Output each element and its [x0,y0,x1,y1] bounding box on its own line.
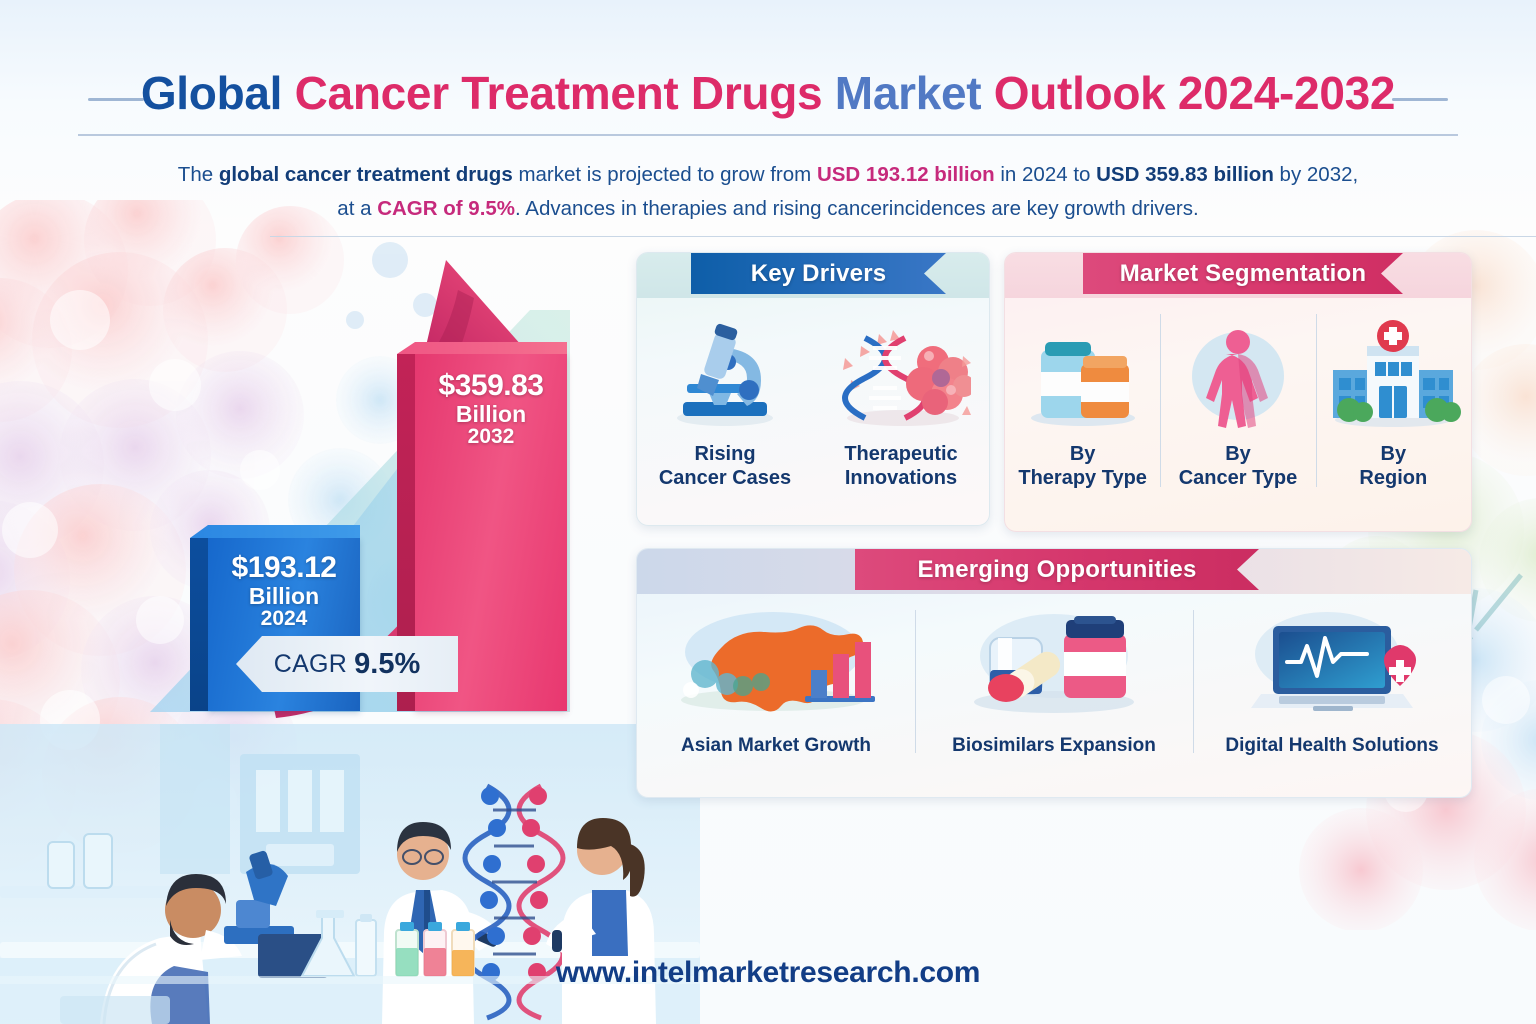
segmentation-body: By Therapy Type B [1005,298,1471,503]
pill-bottles-icon [1019,320,1147,430]
subtitle-text-e: in 2024 to [995,163,1096,186]
microscope-icon [665,318,785,430]
page-title: Global Cancer Treatment Drugs Market Out… [0,66,1536,120]
header: Global Cancer Treatment Drugs Market Out… [0,0,1536,236]
segment-by-region[interactable]: By Region [1316,298,1471,503]
opportunity-3-caption: Digital Health Solutions [1225,734,1438,757]
bar-2032-unit: Billion [415,402,567,426]
opportunities-body: Asian Market Growth [637,594,1471,769]
key-drivers-title: Key Drivers [751,260,887,288]
bar-2032-top [397,342,567,354]
subtitle: The global cancer treatment drugs market… [0,158,1536,226]
subtitle-line-1: The global cancer treatment drugs market… [0,158,1536,192]
subtitle-text-c: market is projected to grow from [513,163,817,186]
opportunity-biosimilars-expansion[interactable]: Biosimilars Expansion [915,594,1193,769]
key-driver-2-line2: Innovations [844,466,957,490]
segment-3-line1: By [1359,442,1427,466]
subtitle-text-j: . Advances in therapies and rising cance… [515,197,1199,220]
segment-3-caption: By Region [1359,442,1427,491]
opportunity-2-caption: Biosimilars Expansion [952,734,1156,757]
opportunity-digital-health-solutions[interactable]: Digital Health Solutions [1193,594,1471,769]
key-driver-1-caption: Rising Cancer Cases [659,442,791,491]
bar-2024-label: $193.12 Billion 2024 [208,552,360,630]
segmentation-divider-2 [1316,314,1317,487]
key-driver-therapeutic-innovations[interactable]: Therapeutic Innovations [813,298,989,503]
hospital-building-art [1323,312,1463,430]
bar-2032-year: 2032 [415,426,567,448]
segmentation-divider-1 [1160,314,1161,487]
subtitle-value-2024: USD 193.12 billion [817,163,995,186]
capsules-bottle-icon [954,608,1154,720]
microscope-art [665,312,785,430]
hospital-building-icon [1323,320,1463,430]
bar-2024-year: 2024 [208,608,360,630]
segment-3-line2: Region [1359,466,1427,490]
subtitle-value-2032: USD 359.83 billion [1096,163,1274,186]
key-driver-2-line1: Therapeutic [844,442,957,466]
cagr-label: CAGR [274,650,347,679]
asia-map-bars-art [661,608,891,720]
opportunity-asian-market-growth[interactable]: Asian Market Growth [637,594,915,769]
title-segment-cancer-treatment-drugs: Cancer Treatment Drugs [295,67,835,119]
subtitle-text-h: at a [337,197,377,220]
key-driver-1-line2: Cancer Cases [659,466,791,490]
card-market-segmentation[interactable]: Market Segmentation [1004,252,1472,532]
bar-2024-unit: Billion [208,584,360,608]
subtitle-text-a: The [178,163,219,186]
market-growth-chart: $193.12 Billion 2024 $359.83 Billion 203… [150,250,670,750]
subtitle-cagr: CAGR of 9.5% [377,197,515,220]
bar-2032-value: $359.83 [415,370,567,402]
title-segment-market: Market [835,67,994,119]
segment-1-caption: By Therapy Type [1018,442,1147,491]
dna-tumor-art [831,312,971,430]
key-driver-2-caption: Therapeutic Innovations [844,442,957,491]
opportunity-1-caption: Asian Market Growth [681,734,871,757]
segmentation-ribbon-wrap: Market Segmentation [1083,253,1403,294]
segment-1-line2: Therapy Type [1018,466,1147,490]
human-body-art [1178,312,1298,430]
bar-2024-value: $193.12 [208,552,360,584]
segment-2-caption: By Cancer Type [1179,442,1298,491]
asia-map-bars-icon [661,608,891,720]
segmentation-title: Market Segmentation [1120,260,1367,288]
footer-url[interactable]: www.intelmarketresearch.com [0,956,1536,990]
segment-2-line2: Cancer Type [1179,466,1298,490]
title-divider [78,134,1458,136]
cagr-value: 9.5% [354,648,420,681]
subtitle-bold-market: global cancer treatment drugs [219,163,513,186]
opportunities-ribbon-wrap: Emerging Opportunities [855,549,1259,590]
key-drivers-ribbon: Key Drivers [691,253,946,294]
key-driver-rising-cancer-cases[interactable]: Rising Cancer Cases [637,298,813,503]
infographic-canvas: Global Cancer Treatment Drugs Market Out… [0,0,1536,1024]
opportunities-divider-2 [1193,610,1194,753]
bar-2024-side [190,538,208,711]
human-body-icon [1178,320,1298,430]
laptop-heart-art [1227,608,1437,720]
segment-by-cancer-type[interactable]: By Cancer Type [1160,298,1315,503]
bar-2024-top [190,525,360,538]
subtitle-text-g: by 2032, [1274,163,1358,186]
opportunities-ribbon-row: Emerging Opportunities [637,549,1471,594]
bar-2032-label: $359.83 Billion 2032 [415,370,567,448]
segment-by-therapy-type[interactable]: By Therapy Type [1005,298,1160,503]
card-key-drivers[interactable]: Key Drivers [636,252,990,526]
capsules-bottle-art [954,608,1154,720]
pill-bottles-art [1019,312,1147,430]
key-driver-1-line1: Rising [659,442,791,466]
laptop-heart-icon [1227,608,1437,720]
cagr-badge: CAGR 9.5% [236,636,458,692]
key-drivers-body: Rising Cancer Cases [637,298,989,503]
opportunities-title: Emerging Opportunities [917,556,1196,584]
segment-1-line1: By [1018,442,1147,466]
key-drivers-ribbon-wrap: Key Drivers [691,253,946,294]
dna-tumor-cells-icon [831,318,971,430]
opportunities-ribbon: Emerging Opportunities [855,549,1259,590]
opportunities-divider-1 [915,610,916,753]
header-divider [270,236,1536,237]
title-segment-global: Global [141,67,295,119]
segmentation-ribbon: Market Segmentation [1083,253,1403,294]
card-emerging-opportunities[interactable]: Emerging Opportunities [636,548,1472,798]
segmentation-ribbon-row: Market Segmentation [1005,253,1471,298]
segment-2-line1: By [1179,442,1298,466]
key-drivers-ribbon-row: Key Drivers [637,253,989,298]
subtitle-line-2: at a CAGR of 9.5%. Advances in therapies… [0,192,1536,226]
title-segment-outlook-years: Outlook 2024-2032 [994,67,1395,119]
